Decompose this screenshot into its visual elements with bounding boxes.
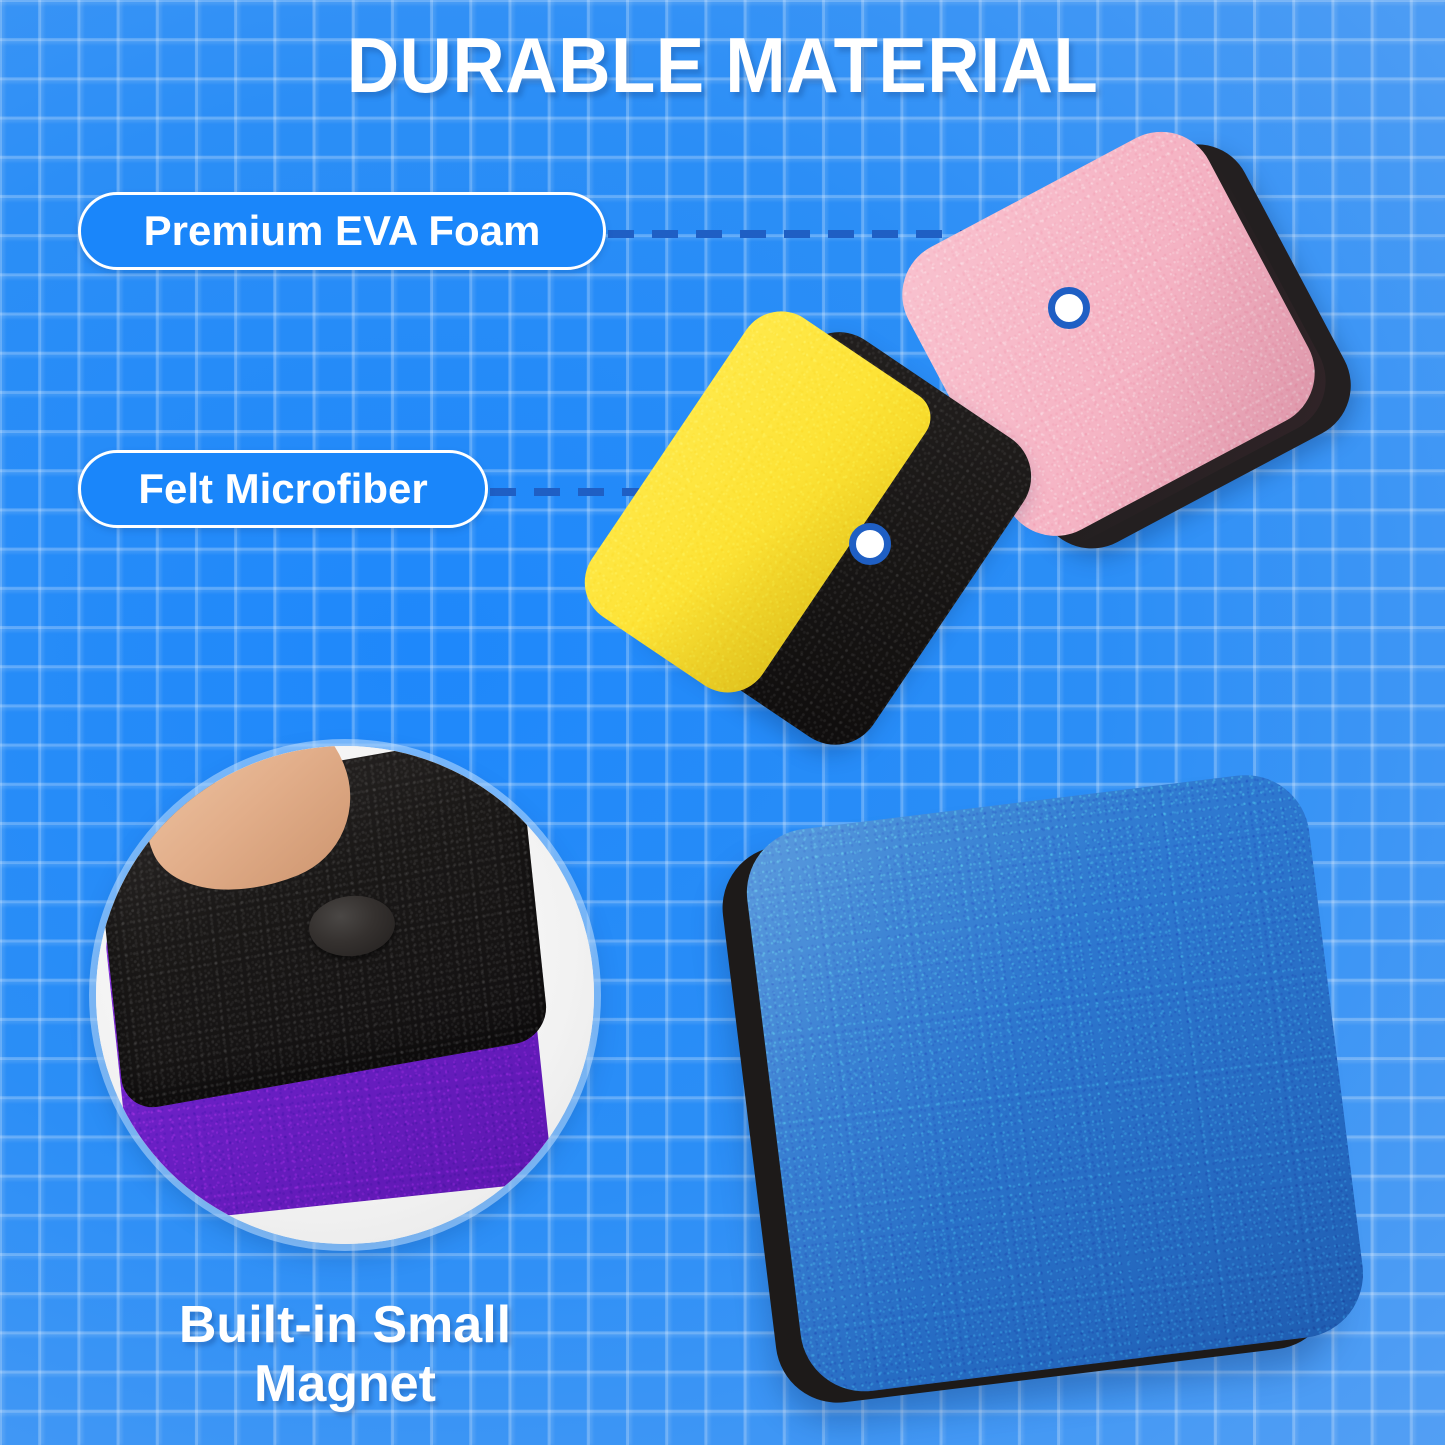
page-title: DURABLE MATERIAL (51, 26, 1395, 104)
callout-pill-felt-microfiber[interactable]: Felt Microfiber (78, 450, 488, 528)
eraser-blue-foam-highlight (740, 768, 1371, 1399)
infographic-canvas: DURABLE MATERIAL Premium EVA Foam Felt M… (0, 0, 1445, 1445)
callout-pill-premium-eva-foam[interactable]: Premium EVA Foam (78, 192, 606, 270)
marker-dot-felt (849, 523, 891, 565)
magnet-detail-photo (96, 746, 594, 1244)
magnet-caption-line-2: Magnet (60, 1355, 630, 1414)
magnet-caption: Built-in Small Magnet (60, 1296, 630, 1415)
marker-dot-eva (1048, 287, 1090, 329)
magnet-caption-line-1: Built-in Small (60, 1296, 630, 1355)
eraser-blue (714, 764, 1403, 1435)
